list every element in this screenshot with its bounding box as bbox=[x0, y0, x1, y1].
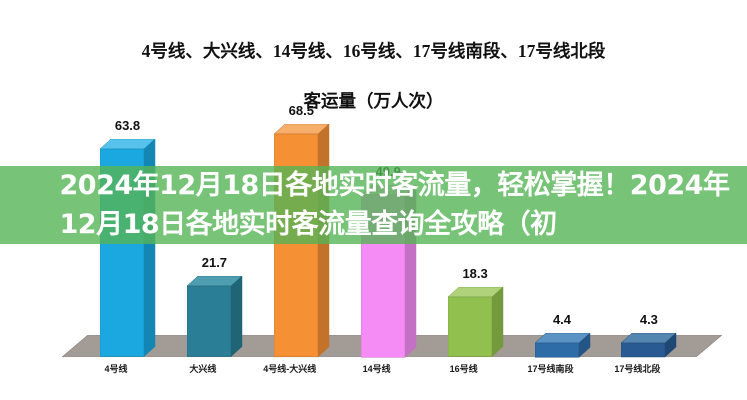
bar-value-label-6: 4.3 bbox=[589, 312, 709, 327]
overlay-banner: 2024年12月18日各地实时客流量，轻松掌握！2024年12月18日各地实时客… bbox=[0, 166, 747, 244]
overlay-banner-text: 2024年12月18日各地实时客流量，轻松掌握！2024年12月18日各地实时客… bbox=[4, 166, 744, 244]
chart-screenshot: 4号线、大兴线、14号线、16号线、17号线南段、17号线北段 客运量（万人次）… bbox=[0, 0, 747, 400]
bar-4 bbox=[448, 287, 505, 359]
bar-value-label-2: 68.5 bbox=[241, 103, 361, 118]
category-label-6: 17号线北段 bbox=[567, 362, 707, 375]
bar-value-label-0: 63.8 bbox=[68, 118, 188, 133]
bar-5 bbox=[535, 333, 592, 359]
bar-value-label-1: 21.7 bbox=[154, 255, 274, 270]
bar-value-label-4: 18.3 bbox=[415, 266, 535, 281]
bar-6 bbox=[621, 333, 678, 359]
bar-1 bbox=[187, 276, 244, 359]
